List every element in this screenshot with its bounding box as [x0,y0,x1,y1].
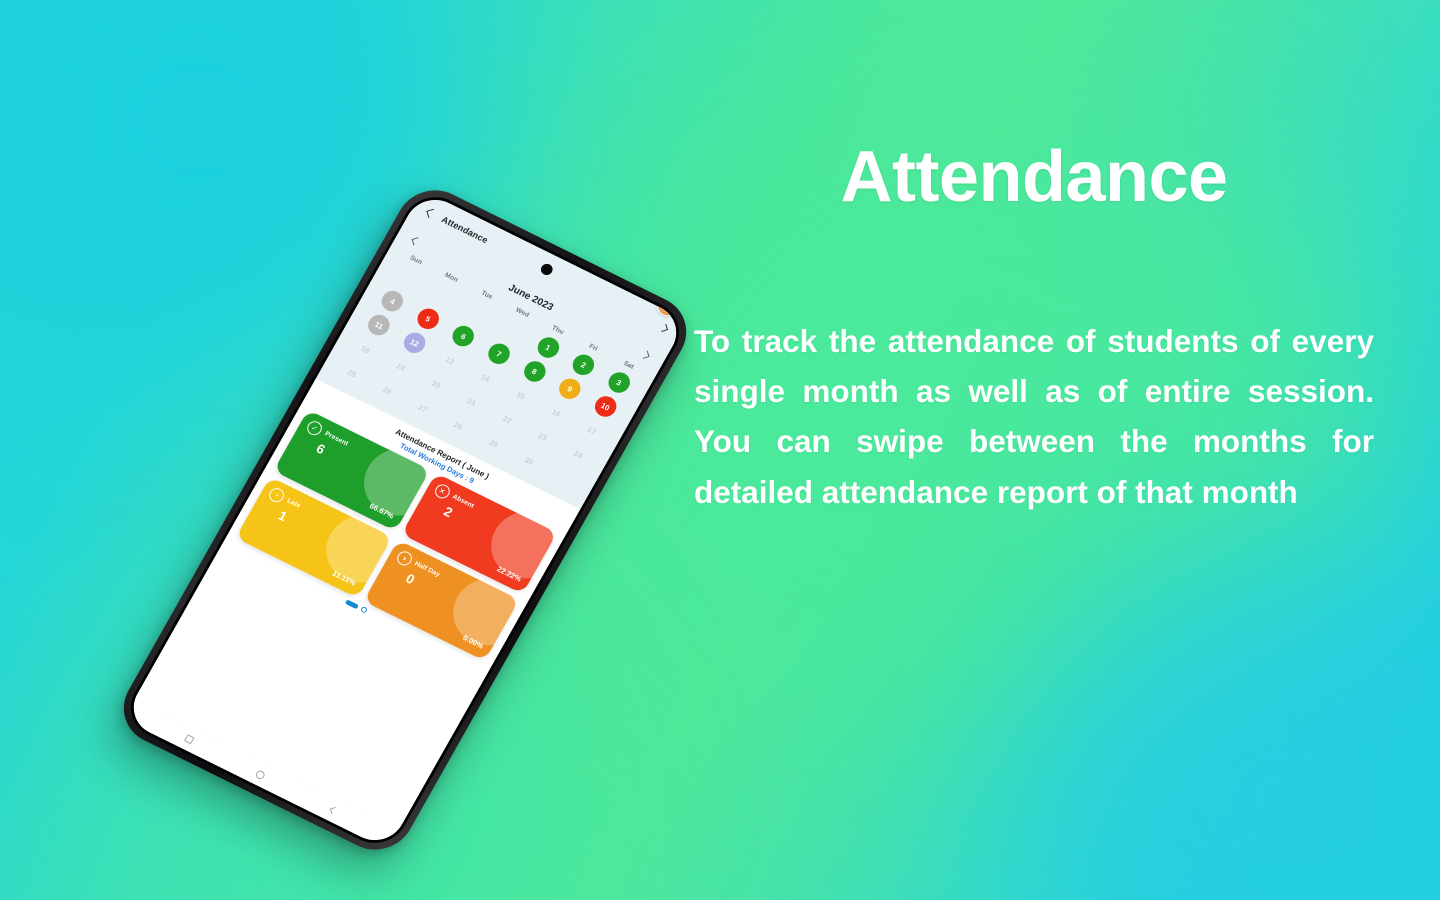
day-25-none[interactable]: 25 [337,359,366,386]
page-dot-active[interactable] [345,599,359,609]
day-14-none[interactable]: 14 [471,364,500,391]
day-27-none[interactable]: 27 [408,394,437,421]
phone-mockup: Attendance June 2023 SunMonTueWedThuFriS… [90,160,690,740]
promo-body: To track the attendance of students of e… [694,316,1374,518]
day-30-none[interactable]: 30 [515,447,544,474]
day-20-none[interactable]: 20 [422,371,451,398]
user-avatar[interactable] [653,292,682,319]
prev-month-button[interactable] [408,234,423,248]
day-24-none[interactable]: 24 [564,441,593,468]
day-23-none[interactable]: 23 [528,423,557,450]
day-10-absent[interactable]: 10 [591,393,620,420]
home-circle-icon[interactable] [255,769,267,780]
phone-frame: Attendance June 2023 SunMonTueWedThuFriS… [110,178,700,863]
chevron-left-icon[interactable] [421,205,438,221]
next-month-button[interactable] [639,348,654,362]
day-16-none[interactable]: 16 [542,399,571,426]
day-3-present[interactable]: 3 [604,369,633,396]
cross-circle-icon: ✕ [432,482,452,501]
day-11-holiday[interactable]: 11 [365,311,394,338]
promo-panel: Attendance To track the attendance of st… [694,140,1374,517]
check-circle-icon: ✓ [305,419,325,438]
back-chevron-icon[interactable] [326,804,338,815]
day-5-absent[interactable]: 5 [414,305,443,332]
card-label: Late [286,498,302,510]
day-17-none[interactable]: 17 [577,417,606,444]
day-9-late[interactable]: 9 [555,375,584,402]
clock-circle-icon: ◔ [267,486,287,505]
day-22-none[interactable]: 22 [493,406,522,433]
day-18-none[interactable]: 18 [351,335,380,362]
day-1-present[interactable]: 1 [534,334,563,361]
day-7-present[interactable]: 7 [484,340,513,367]
day-28-none[interactable]: 28 [444,412,473,439]
day-21-none[interactable]: 21 [457,388,486,415]
phone-screen: Attendance June 2023 SunMonTueWedThuFriS… [123,190,687,850]
day-19-none[interactable]: 19 [386,353,415,380]
half-circle-icon: ◑ [394,549,414,568]
chevron-icon[interactable] [655,321,671,336]
day-26-none[interactable]: 26 [373,377,402,404]
day-13-none[interactable]: 13 [435,347,464,374]
day-2-present[interactable]: 2 [569,351,598,378]
day-15-none[interactable]: 15 [506,382,535,409]
day-29-none[interactable]: 29 [479,430,508,457]
day-4-holiday[interactable]: 4 [378,287,407,314]
day-8-present[interactable]: 8 [520,358,549,385]
recents-square-icon[interactable] [184,734,195,744]
page-dot[interactable] [360,606,368,613]
promo-headline: Attendance [694,140,1374,216]
day-12-event[interactable]: 12 [400,329,429,356]
day-6-present[interactable]: 6 [449,323,478,350]
